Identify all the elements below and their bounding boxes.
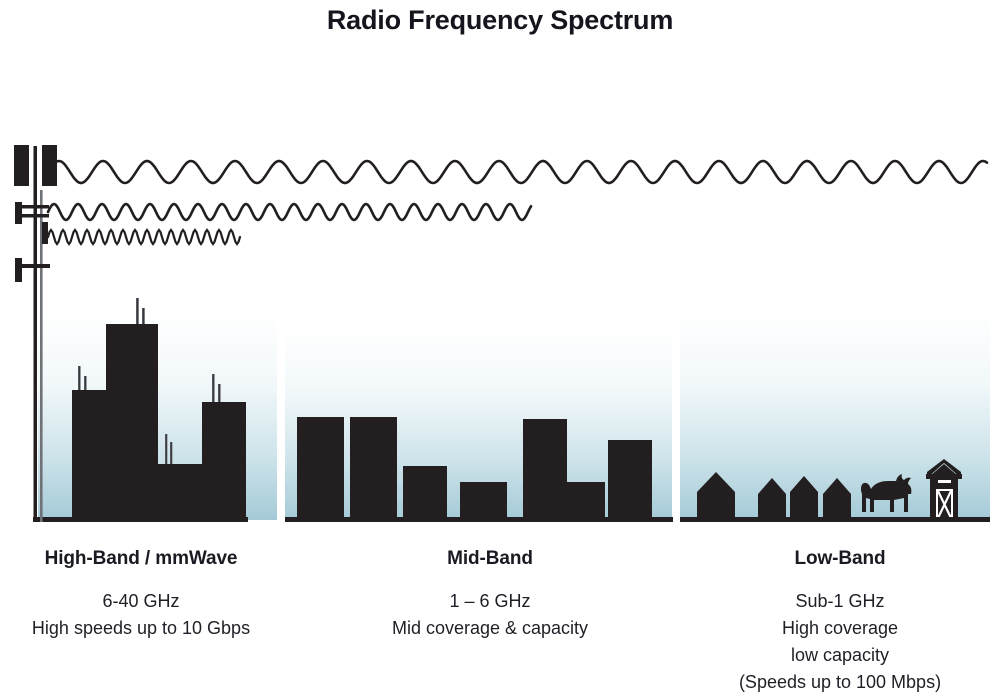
band-description-low: Sub-1 GHz High coverage low capacity (Sp…: [690, 588, 990, 696]
band-detail-low-1: High coverage: [690, 615, 990, 642]
radio-waves: [48, 161, 987, 244]
band-label-low: Low-Band: [690, 548, 990, 570]
band-description-high: 6-40 GHz High speeds up to 10 Gbps: [0, 588, 282, 642]
tower-crossbar: [22, 205, 49, 209]
band-label-high: High-Band / mmWave: [0, 548, 282, 570]
antenna-spire: [212, 374, 215, 406]
band-frequency-high: 6-40 GHz: [0, 588, 282, 615]
antenna-element: [15, 202, 22, 224]
ground-line-high: [33, 517, 248, 522]
skyscraper: [158, 464, 202, 520]
tower-mast: [34, 146, 38, 522]
tower-crossbar: [22, 214, 49, 218]
band-detail-low-2: low capacity: [690, 642, 990, 669]
antenna-element: [42, 222, 48, 244]
band-detail-mid: Mid coverage & capacity: [340, 615, 640, 642]
tower-crossbar: [22, 264, 50, 268]
barn-loft-window: [938, 480, 951, 483]
low-band-wave: [48, 161, 987, 183]
building: [350, 417, 397, 520]
band-label-mid: Mid-Band: [340, 548, 640, 570]
antenna-panel: [42, 145, 57, 186]
band-frequency-low: Sub-1 GHz: [690, 588, 990, 615]
ground-line-low: [680, 517, 990, 522]
band-description-mid: 1 – 6 GHz Mid coverage & capacity: [340, 588, 640, 642]
building: [523, 419, 567, 520]
building: [403, 466, 447, 520]
antenna-element: [15, 258, 22, 282]
infographic-canvas: Radio Frequency Spectrum: [0, 0, 1000, 700]
band-frequency-mid: 1 – 6 GHz: [340, 588, 640, 615]
skyscraper: [72, 390, 106, 520]
building: [567, 482, 605, 520]
building: [460, 482, 507, 520]
high-band-wave: [48, 230, 240, 244]
antenna-panel: [14, 145, 29, 186]
antenna-spire: [165, 434, 167, 464]
ground-line-mid: [285, 517, 673, 522]
antenna-spire: [136, 298, 139, 326]
mid-band-wave: [48, 204, 531, 220]
building: [297, 417, 344, 520]
antenna-spire: [142, 308, 145, 326]
skyscraper: [202, 402, 246, 520]
band-detail-high: High speeds up to 10 Gbps: [0, 615, 282, 642]
building: [608, 440, 652, 520]
barn-roof-eave: [926, 474, 962, 479]
skyscraper: [106, 324, 158, 520]
band-detail-low-3: (Speeds up to 100 Mbps): [690, 669, 990, 696]
antenna-spire: [170, 442, 172, 464]
